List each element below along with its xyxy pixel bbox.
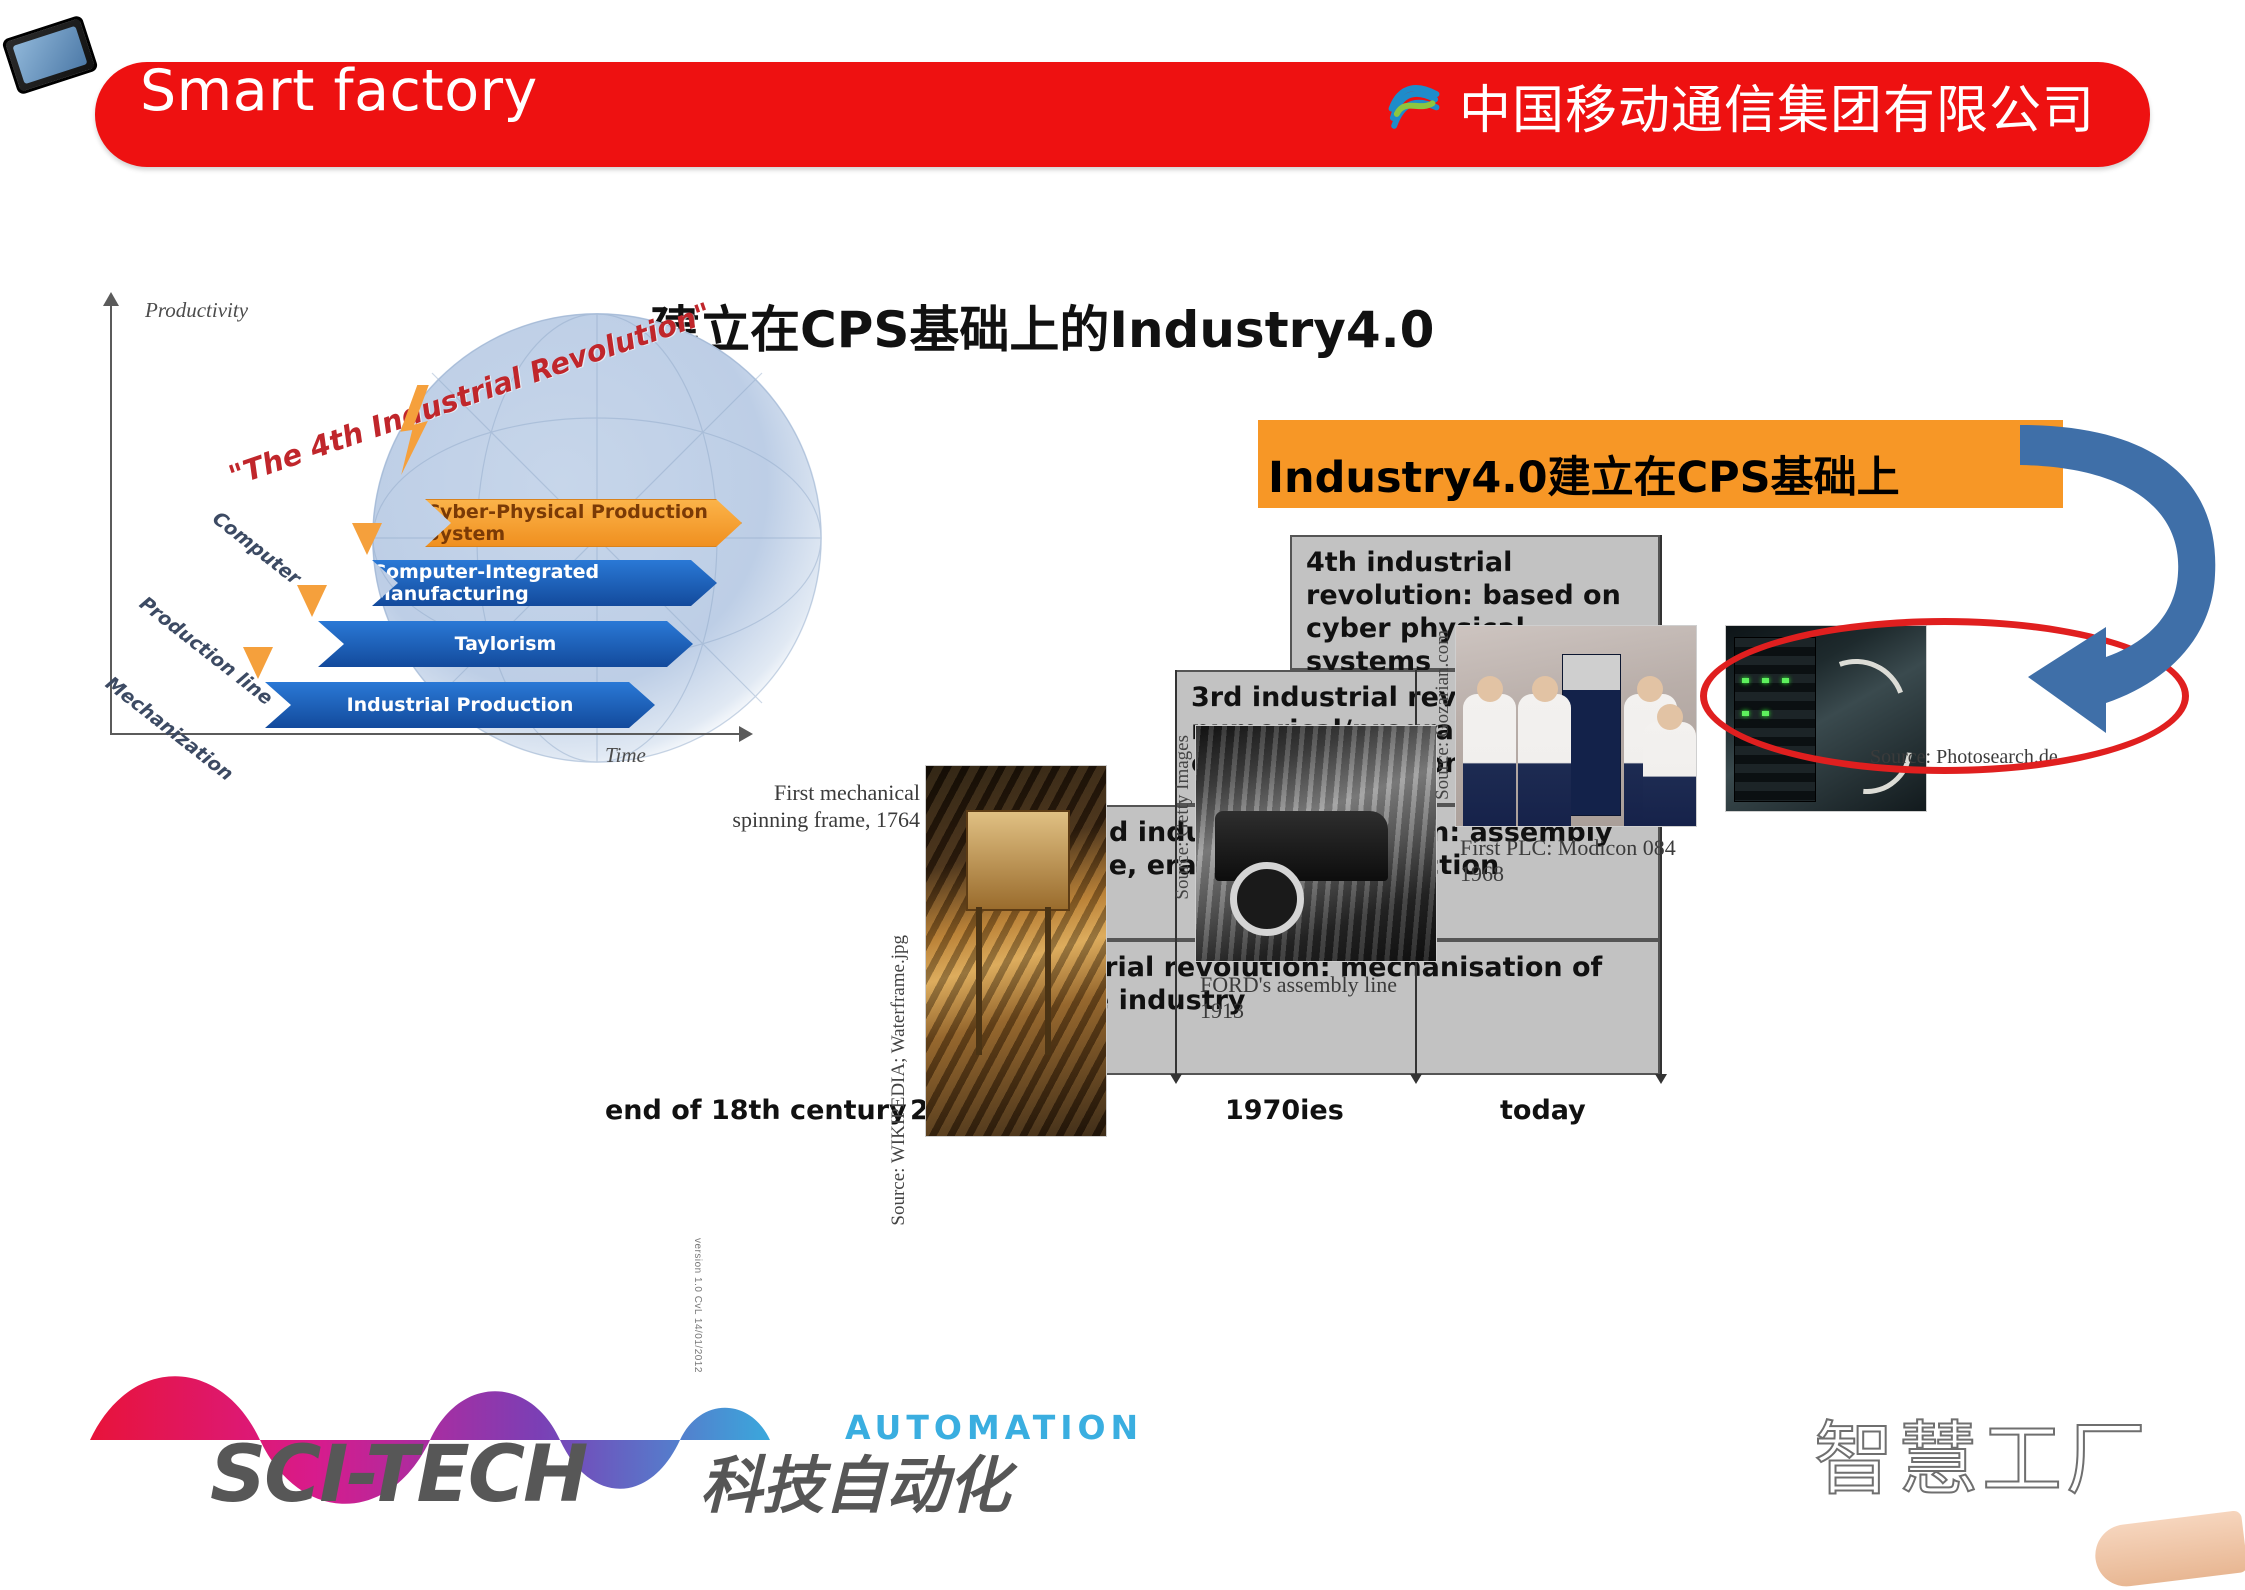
x-axis-label: Time — [605, 743, 646, 768]
stage-label-mechanization: Mechanization — [101, 672, 237, 785]
band-computer-integrated-manufacturing: Computer-Integrated Manufacturing — [372, 560, 717, 606]
spinning-frame-caption: First mechanical spinning frame, 1764 — [715, 780, 920, 834]
callout-text: Industry4.0建立在CPS基础上 — [1268, 443, 1900, 505]
brand-name-sci-tech: SCI-TECH — [210, 1430, 586, 1520]
x-axis — [110, 733, 740, 735]
photo-caption-plc: First PLC: Modicon 084 1968 — [1460, 835, 1695, 888]
photo-source-wikipedia: Source: WIKIPEDIA; Waterframe.jpg — [888, 935, 910, 1226]
photo-ford-assembly-line — [1195, 725, 1437, 962]
photo-source-getty: Source: Getty Images — [1172, 735, 1194, 900]
china-mobile-wave-icon — [1381, 73, 1447, 139]
y-axis — [110, 305, 112, 735]
photo-spinning-frame — [925, 765, 1107, 1137]
timeline-label-today: today — [1500, 1095, 1586, 1126]
band-cyber-physical-production-system: Cyber-Physical Production System — [425, 499, 742, 547]
photo-caption-ford: FORD's assembly line 1913 — [1200, 972, 1430, 1025]
band-taylorism: Taylorism — [318, 621, 693, 667]
y-axis-label: Productivity — [145, 298, 248, 323]
brand-name-chinese: 科技自动化 — [700, 1435, 1010, 1525]
trigger-marker-production-line — [297, 585, 327, 617]
trigger-marker-mechanization — [243, 647, 273, 679]
timeline-label-end-18th-century: end of 18th century — [605, 1095, 907, 1126]
timeline-label-1970ies: 1970ies — [1225, 1095, 1344, 1126]
band-industrial-production: Industrial Production — [265, 682, 655, 728]
productivity-timeline-chart: Productivity Time "The 4th Industrial Re… — [100, 285, 940, 805]
blue-curved-arrow — [2010, 415, 2230, 745]
stage-label-computer: Computer — [208, 507, 304, 589]
company-name: 中国移动通信集团有限公司 — [1459, 68, 2095, 143]
company-branding: 中国移动通信集团有限公司 — [1381, 68, 2095, 143]
page-banner-title: Smart factory — [140, 58, 538, 124]
smart-factory-chinese-logo: 智慧工厂 — [1814, 1395, 2150, 1511]
trigger-marker-computer — [352, 523, 382, 555]
photo-source-gozarian: Source: Gozarian.com — [1432, 630, 1454, 800]
photo-first-plc — [1455, 625, 1697, 827]
